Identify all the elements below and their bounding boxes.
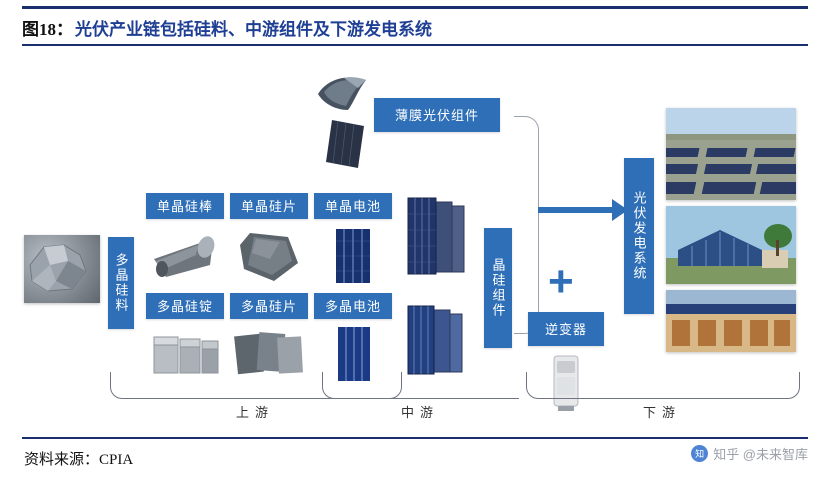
- mono-wafer-shape: [230, 225, 308, 287]
- thin-film-panel-photo: [320, 116, 370, 174]
- mono-cell-shape: [314, 225, 392, 287]
- label-mono-cell-text: 单晶电池: [325, 199, 381, 214]
- stage-label-midstream: 中游: [322, 402, 518, 421]
- label-pv-power-system-text: 光伏发电系统: [632, 191, 647, 281]
- label-thin-film-module-text: 薄膜光伏组件: [395, 108, 479, 123]
- midstream-bracket: [322, 372, 519, 399]
- label-mono-cell: 单晶电池: [314, 193, 392, 219]
- figure-page: 图18： 光伏产业链包括硅料、中游组件及下游发电系统 多晶硅料 单晶硅棒 单晶硅…: [0, 0, 830, 483]
- crystalline-module-stack-shape: [400, 190, 480, 286]
- stage-label-upstream-text: 上游: [236, 405, 274, 420]
- polysilicon-chunk-photo: [24, 235, 100, 303]
- plus-symbol: +: [548, 260, 574, 304]
- label-mono-wafer: 单晶硅片: [230, 193, 308, 219]
- mono-rod-photo: [146, 225, 224, 287]
- label-inverter: 逆变器: [528, 312, 604, 346]
- stage-label-downstream-text: 下游: [643, 405, 681, 420]
- label-crystalline-module-text: 晶硅组件: [491, 258, 506, 318]
- watermark-text: 知乎 @未来智库: [713, 444, 808, 463]
- figure-number: 图18：: [22, 15, 73, 40]
- label-multi-ingot: 多晶硅锭: [146, 293, 224, 319]
- crystalline-module-stack-photo: [400, 190, 480, 286]
- watermark: 知 知乎 @未来智库: [691, 444, 808, 463]
- label-multi-ingot-text: 多晶硅锭: [157, 299, 213, 314]
- label-pv-power-system: 光伏发电系统: [624, 158, 654, 314]
- rooftop-residential-photo: [666, 206, 796, 284]
- thin-film-roll-photo: [314, 68, 372, 114]
- source-rule: [22, 437, 808, 439]
- label-multi-cell-text: 多晶电池: [325, 299, 381, 314]
- stage-label-midstream-text: 中游: [401, 405, 439, 420]
- page-title: 光伏产业链包括硅料、中游组件及下游发电系统: [75, 15, 432, 40]
- utility-plant-shape: [666, 108, 796, 200]
- plus-symbol-text: +: [548, 257, 574, 306]
- label-multi-wafer: 多晶硅片: [230, 293, 308, 319]
- thin-film-panel-shape: [320, 116, 370, 174]
- flow-arrow-line: [538, 207, 614, 213]
- label-multi-wafer-text: 多晶硅片: [241, 299, 297, 314]
- label-polysilicon-material-text: 多晶硅料: [114, 253, 129, 313]
- building-rooftop-shape: [666, 290, 796, 352]
- source-note: 资料来源：CPIA: [24, 448, 133, 469]
- label-mono-rod: 单晶硅棒: [146, 193, 224, 219]
- mono-rod-shape: [146, 225, 224, 287]
- building-rooftop-photo: [666, 290, 796, 352]
- watermark-badge-icon: 知: [691, 445, 708, 462]
- mono-cell-photo: [314, 225, 392, 287]
- value-chain-diagram: 多晶硅料 单晶硅棒 单晶硅片 单晶电池: [22, 50, 808, 435]
- label-mono-wafer-text: 单晶硅片: [241, 199, 297, 214]
- label-mono-rod-text: 单晶硅棒: [157, 199, 213, 214]
- label-polysilicon-material: 多晶硅料: [108, 237, 134, 329]
- figure-title-row: 图18： 光伏产业链包括硅料、中游组件及下游发电系统: [22, 12, 808, 42]
- mono-wafer-photo: [230, 225, 308, 287]
- midstream-merge-connector: [514, 116, 539, 334]
- label-multi-cell: 多晶电池: [314, 293, 392, 319]
- label-crystalline-module: 晶硅组件: [484, 228, 512, 348]
- polysilicon-chunk-shape: [24, 235, 100, 303]
- title-bottom-rule: [22, 44, 808, 46]
- label-thin-film-module: 薄膜光伏组件: [374, 98, 500, 132]
- utility-plant-photo: [666, 108, 796, 200]
- stage-label-downstream: 下游: [526, 402, 798, 421]
- rooftop-residential-shape: [666, 206, 796, 284]
- thin-film-roll-shape: [314, 68, 372, 114]
- downstream-bracket: [526, 372, 800, 399]
- title-top-rule: [22, 6, 808, 9]
- label-inverter-text: 逆变器: [545, 322, 587, 337]
